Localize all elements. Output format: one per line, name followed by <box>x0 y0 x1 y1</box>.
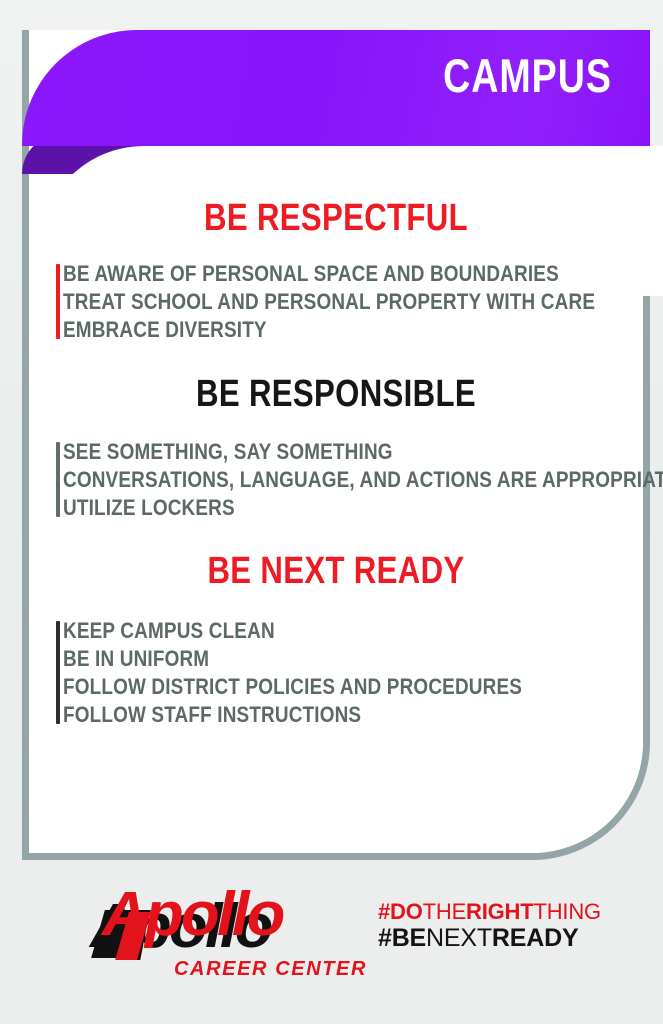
footer: Apollo Apollo CAREER CENTER #DOTHERIGHTT… <box>0 872 663 1002</box>
hashtag-part: NEXT <box>426 924 492 952</box>
hashtag-part: #DO <box>378 899 423 924</box>
accent-rail-dark <box>56 621 60 724</box>
apollo-logo: Apollo Apollo CAREER CENTER <box>96 872 356 982</box>
hashtag-part: READY <box>492 924 579 952</box>
list-item: FOLLOW DISTRICT POLICIES AND PROCEDURES <box>63 673 568 701</box>
section-be-responsible: BE RESPONSIBLE SEE SOMETHING, SAY SOMETH… <box>22 344 650 521</box>
section-title-be-respectful: BE RESPECTFUL <box>79 198 594 238</box>
hashtag-part: #BE <box>378 924 426 952</box>
hashtag-be-next-ready: #BENEXTREADY <box>378 925 618 951</box>
list-item: SEE SOMETHING, SAY SOMETHING <box>63 438 568 466</box>
hashtag-block: #DOTHERIGHTTHING #BENEXTREADY <box>378 900 618 951</box>
hashtag-part: RIGHT <box>466 899 533 924</box>
apollo-logo-subtitle: CAREER CENTER <box>174 958 367 981</box>
list-item: EMBRACE DIVERSITY <box>63 316 568 344</box>
list-item: TREAT SCHOOL AND PERSONAL PROPERTY WITH … <box>63 288 568 316</box>
bullet-list-be-next-ready: KEEP CAMPUS CLEAN BE IN UNIFORM FOLLOW D… <box>41 617 650 729</box>
accent-rail-gray <box>56 442 60 517</box>
list-item: BE AWARE OF PERSONAL SPACE AND BOUNDARIE… <box>63 260 568 288</box>
hashtag-do-the-right-thing: #DOTHERIGHTTHING <box>378 900 618 923</box>
bullet-list-be-responsible: SEE SOMETHING, SAY SOMETHING CONVERSATIO… <box>41 438 650 522</box>
page-title: CAMPUS <box>443 52 612 99</box>
section-be-respectful: BE RESPECTFUL BE AWARE OF PERSONAL SPACE… <box>22 182 650 344</box>
list-item: BE IN UNIFORM <box>63 645 568 673</box>
apollo-wordmark: Apollo <box>102 884 283 946</box>
bullet-list-be-respectful: BE AWARE OF PERSONAL SPACE AND BOUNDARIE… <box>41 260 650 344</box>
hashtag-part: THE <box>423 899 466 924</box>
header-banner: CAMPUS <box>22 30 650 182</box>
section-title-be-responsible: BE RESPONSIBLE <box>79 374 594 414</box>
list-item: FOLLOW STAFF INSTRUCTIONS <box>63 701 568 729</box>
section-title-be-next-ready: BE NEXT READY <box>79 551 594 591</box>
section-be-next-ready: BE NEXT READY KEEP CAMPUS CLEAN BE IN UN… <box>22 522 650 729</box>
list-item: CONVERSATIONS, LANGUAGE, AND ACTIONS ARE… <box>63 466 568 494</box>
list-item: KEEP CAMPUS CLEAN <box>63 617 568 645</box>
accent-rail-red <box>56 264 60 339</box>
list-item: UTILIZE LOCKERS <box>63 494 568 522</box>
poster-root: CAMPUS BE RESPECTFUL BE AWARE OF PERSONA… <box>0 0 663 1024</box>
rules-content: BE RESPECTFUL BE AWARE OF PERSONAL SPACE… <box>22 182 650 729</box>
hashtag-part: THING <box>534 899 601 924</box>
